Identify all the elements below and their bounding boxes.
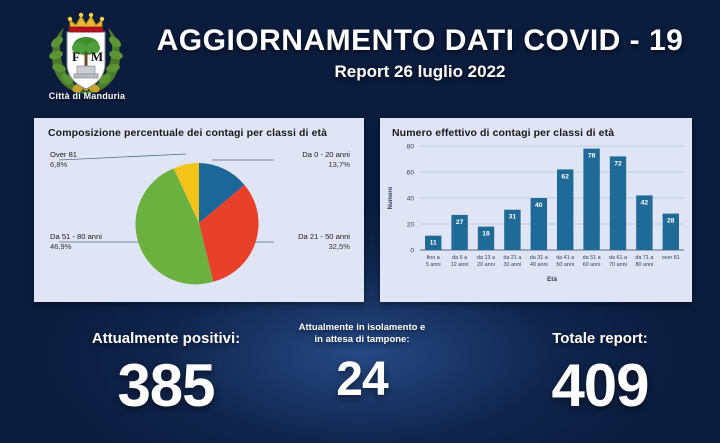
stat-isolamento-label-line2: in attesa di tampone: (314, 334, 409, 345)
stat-attualmente-positivi: Attualmente positivi: 385 (56, 330, 276, 420)
pie-chart-svg (34, 118, 364, 302)
page-header: F M Città di Manduria AGGIORNAMENTO DATI… (0, 0, 720, 112)
pie-chart: Over 81 6,8% Da 0 - 20 anni 13,7% Da 51 … (34, 118, 364, 302)
bar-chart-xtick: da 61 a (609, 255, 627, 261)
bar-chart-value-label: 40 (535, 202, 543, 209)
stat-in-isolamento: Attualmente in isolamento e in attesa di… (282, 322, 442, 407)
bar-chart-value-label: 31 (509, 214, 517, 221)
bar-chart-xtick: 5 anni (426, 262, 441, 268)
bar-chart-xtick: da 21 a (503, 255, 521, 261)
stat-positivi-value: 385 (56, 351, 276, 420)
bar-chart-xtick: da 13 a (477, 255, 495, 261)
bar-chart-xtick: 70 anni (609, 262, 627, 268)
dashboard-root: F M Città di Manduria AGGIORNAMENTO DATI… (0, 0, 720, 443)
bar-chart-xtick: da 6 a (452, 255, 467, 261)
page-title: AGGIORNAMENTO DATI COVID - 19 (140, 24, 700, 58)
pie-slices (135, 163, 258, 284)
stat-totale-report: Totale report: 409 (500, 330, 700, 420)
bar-chart-bar (610, 156, 626, 250)
bar-chart-xtick: 30 anni (504, 262, 522, 268)
stat-totale-label: Totale report: (500, 330, 700, 349)
emblem-caption: Città di Manduria (33, 91, 141, 101)
bar-chart-xtick: 20 anni (477, 262, 495, 268)
stat-positivi-label: Attualmente positivi: (56, 330, 276, 349)
stat-isolamento-label-line1: Attualmente in isolamento e (299, 322, 426, 333)
emblem-letter-m: M (91, 49, 103, 64)
pie-label-51-80: Da 51 - 80 anni 46,9% (50, 232, 102, 253)
bar-chart-xtick: 80 anni (636, 262, 654, 268)
emblem-letter-f: F (72, 49, 80, 64)
bar-chart-value-label: 72 (614, 160, 622, 167)
bar-chart-value-label: 27 (456, 219, 464, 226)
bar-chart-ytick: 60 (407, 170, 415, 177)
bar-chart-xlabel: Età (547, 276, 558, 283)
bar-chart-value-label: 18 (482, 231, 490, 238)
stat-isolamento-value: 24 (282, 352, 442, 407)
bar-chart-xtick: 60 anni (583, 262, 601, 268)
bar-chart-value-label: 78 (588, 153, 596, 160)
pie-label-over81: Over 81 6,8% (50, 150, 77, 171)
bar-chart-xtick: da 31 a (530, 255, 548, 261)
pie-chart-panel: Composizione percentuale dei contagi per… (34, 118, 364, 302)
bar-chart-xtick: da 71 a (635, 255, 653, 261)
bar-chart-value-label: 11 (430, 240, 437, 247)
bar-chart-xtick: 50 anni (556, 262, 574, 268)
bar-chart-ytick: 40 (407, 196, 415, 203)
stat-isolamento-label: Attualmente in isolamento e in attesa di… (282, 322, 442, 346)
stat-totale-value: 409 (500, 351, 700, 420)
bar-chart-xtick: da 41 a (556, 255, 574, 261)
bar-chart-value-label: 62 (561, 173, 569, 180)
page-subtitle: Report 26 luglio 2022 (140, 62, 700, 82)
bar-chart-ytick: 20 (407, 222, 415, 229)
bar-chart-ytick: 0 (410, 248, 414, 255)
pie-label-0-20: Da 0 - 20 anni 13,7% (302, 150, 350, 171)
bar-chart-xtick: fino a (427, 255, 440, 261)
bar-chart-ytick: 80 (407, 144, 415, 151)
bar-chart-bar (557, 169, 573, 250)
pie-label-21-50: Da 21 - 50 anni 32,5% (298, 232, 350, 253)
bar-chart-bar (583, 149, 599, 250)
bar-chart-ylabel: Numero (388, 186, 394, 209)
bar-chart-value-label: 28 (667, 218, 675, 225)
bar-chart-value-label: 42 (641, 199, 649, 206)
bar-chart-xtick: 12 anni (451, 262, 469, 268)
bar-chart-svg: 02040608011fino a5 anni27da 6 a12 anni18… (380, 118, 692, 302)
bar-chart-xtick: over 81 (662, 255, 680, 261)
bar-chart-panel: Numero effettivo di contagi per classi d… (380, 118, 692, 302)
bar-chart-xtick: da 51 a (583, 255, 601, 261)
bar-chart-xtick: 40 anni (530, 262, 548, 268)
